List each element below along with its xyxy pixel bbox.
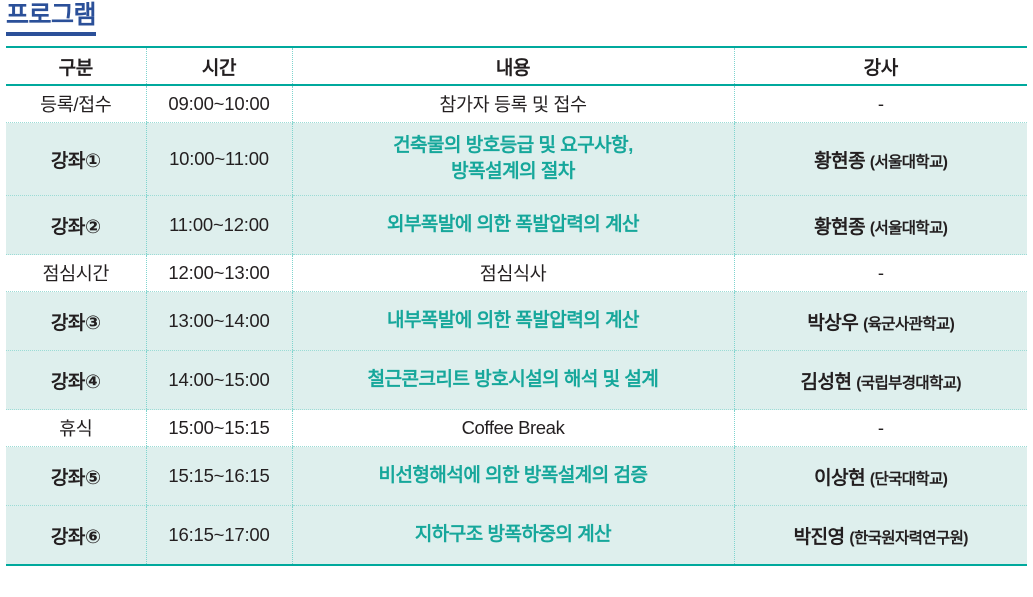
cell-division: 강좌⑤ — [6, 447, 146, 506]
table-header: 구분 시간 내용 강사 — [6, 47, 1027, 85]
table-row: 점심시간12:00~13:00점심식사- — [6, 255, 1027, 292]
cell-lecturer: - — [734, 410, 1027, 447]
cell-time: 09:00~10:00 — [146, 85, 292, 123]
cell-content-line1: 비선형해석에 의한 방폭설계의 검증 — [378, 465, 647, 486]
lecturer-affiliation: (서울대학교) — [870, 154, 947, 171]
program-page: 프로그램 구분 시간 내용 강사 등록/접수09:00~10:00참가자 등록 … — [0, 0, 1033, 597]
cell-content: Coffee Break — [292, 410, 734, 447]
cell-time: 10:00~11:00 — [146, 123, 292, 196]
cell-division: 점심시간 — [6, 255, 146, 292]
lecturer-affiliation: (서울대학교) — [870, 220, 947, 237]
lecturer-name: 이상현 — [814, 468, 865, 489]
lecturer-name: - — [878, 262, 884, 283]
cell-lecturer: 황현종 (서울대학교) — [734, 123, 1027, 196]
cell-lecturer: - — [734, 255, 1027, 292]
cell-content: 참가자 등록 및 접수 — [292, 85, 734, 123]
table-row: 휴식15:00~15:15Coffee Break- — [6, 410, 1027, 447]
cell-content: 철근콘크리트 방호시설의 해석 및 설계 — [292, 351, 734, 410]
cell-division: 강좌⑥ — [6, 506, 146, 566]
cell-content-line1: 외부폭발에 의한 폭발압력의 계산 — [387, 214, 639, 235]
cell-time: 16:15~17:00 — [146, 506, 292, 566]
cell-time: 13:00~14:00 — [146, 292, 292, 351]
cell-content-line1: 지하구조 방폭하중의 계산 — [415, 524, 611, 545]
page-title-wrap: 프로그램 — [6, 2, 96, 36]
lecturer-name: - — [878, 417, 884, 438]
cell-content-line1: 철근콘크리트 방호시설의 해석 및 설계 — [368, 369, 659, 390]
lecturer-name: - — [878, 93, 884, 114]
table-row: 강좌⑤15:15~16:15비선형해석에 의한 방폭설계의 검증이상현 (단국대… — [6, 447, 1027, 506]
cell-time: 14:00~15:00 — [146, 351, 292, 410]
cell-lecturer: - — [734, 85, 1027, 123]
cell-time: 11:00~12:00 — [146, 196, 292, 255]
cell-division: 휴식 — [6, 410, 146, 447]
cell-content-line1: 내부폭발에 의한 폭발압력의 계산 — [387, 310, 639, 331]
cell-division: 강좌② — [6, 196, 146, 255]
lecturer-name: 박진영 — [794, 527, 845, 548]
table-row: 강좌③13:00~14:00내부폭발에 의한 폭발압력의 계산박상우 (육군사관… — [6, 292, 1027, 351]
cell-time: 15:15~16:15 — [146, 447, 292, 506]
program-schedule-table: 구분 시간 내용 강사 등록/접수09:00~10:00참가자 등록 및 접수-… — [6, 46, 1027, 566]
cell-lecturer: 김성현 (국립부경대학교) — [734, 351, 1027, 410]
table-row: 등록/접수09:00~10:00참가자 등록 및 접수- — [6, 85, 1027, 123]
cell-content-line1: 점심식사 — [480, 263, 546, 284]
cell-division: 강좌④ — [6, 351, 146, 410]
column-header-lecturer: 강사 — [734, 47, 1027, 85]
cell-lecturer: 박상우 (육군사관학교) — [734, 292, 1027, 351]
cell-division: 강좌③ — [6, 292, 146, 351]
page-title: 프로그램 — [6, 2, 96, 36]
cell-lecturer: 황현종 (서울대학교) — [734, 196, 1027, 255]
cell-time: 15:00~15:15 — [146, 410, 292, 447]
table-body: 등록/접수09:00~10:00참가자 등록 및 접수-강좌①10:00~11:… — [6, 85, 1027, 565]
lecturer-affiliation: (육군사관학교) — [863, 316, 954, 333]
lecturer-name: 황현종 — [814, 217, 865, 238]
cell-lecturer: 이상현 (단국대학교) — [734, 447, 1027, 506]
cell-content-line1: 참가자 등록 및 접수 — [439, 94, 586, 115]
column-header-content: 내용 — [292, 47, 734, 85]
table-header-row: 구분 시간 내용 강사 — [6, 47, 1027, 85]
column-header-division: 구분 — [6, 47, 146, 85]
table-row: 강좌①10:00~11:00건축물의 방호등급 및 요구사항,방폭설계의 절차황… — [6, 123, 1027, 196]
column-header-time: 시간 — [146, 47, 292, 85]
table-row: 강좌④14:00~15:00철근콘크리트 방호시설의 해석 및 설계김성현 (국… — [6, 351, 1027, 410]
cell-content: 건축물의 방호등급 및 요구사항,방폭설계의 절차 — [292, 123, 734, 196]
cell-content: 지하구조 방폭하중의 계산 — [292, 506, 734, 566]
cell-time: 12:00~13:00 — [146, 255, 292, 292]
cell-content-line1: 건축물의 방호등급 및 요구사항, — [393, 135, 633, 156]
lecturer-name: 김성현 — [801, 372, 852, 393]
lecturer-name: 황현종 — [814, 151, 865, 172]
cell-division: 등록/접수 — [6, 85, 146, 123]
lecturer-affiliation: (한국원자력연구원) — [849, 530, 967, 547]
cell-content: 점심식사 — [292, 255, 734, 292]
cell-content: 비선형해석에 의한 방폭설계의 검증 — [292, 447, 734, 506]
lecturer-affiliation: (단국대학교) — [870, 471, 947, 488]
lecturer-affiliation: (국립부경대학교) — [856, 375, 961, 392]
table-row: 강좌②11:00~12:00외부폭발에 의한 폭발압력의 계산황현종 (서울대학… — [6, 196, 1027, 255]
cell-content-line1: Coffee Break — [462, 417, 565, 438]
cell-content: 내부폭발에 의한 폭발압력의 계산 — [292, 292, 734, 351]
cell-content: 외부폭발에 의한 폭발압력의 계산 — [292, 196, 734, 255]
cell-lecturer: 박진영 (한국원자력연구원) — [734, 506, 1027, 566]
table-row: 강좌⑥16:15~17:00지하구조 방폭하중의 계산박진영 (한국원자력연구원… — [6, 506, 1027, 566]
lecturer-name: 박상우 — [807, 313, 858, 334]
cell-content-line2: 방폭설계의 절차 — [293, 159, 734, 185]
cell-division: 강좌① — [6, 123, 146, 196]
